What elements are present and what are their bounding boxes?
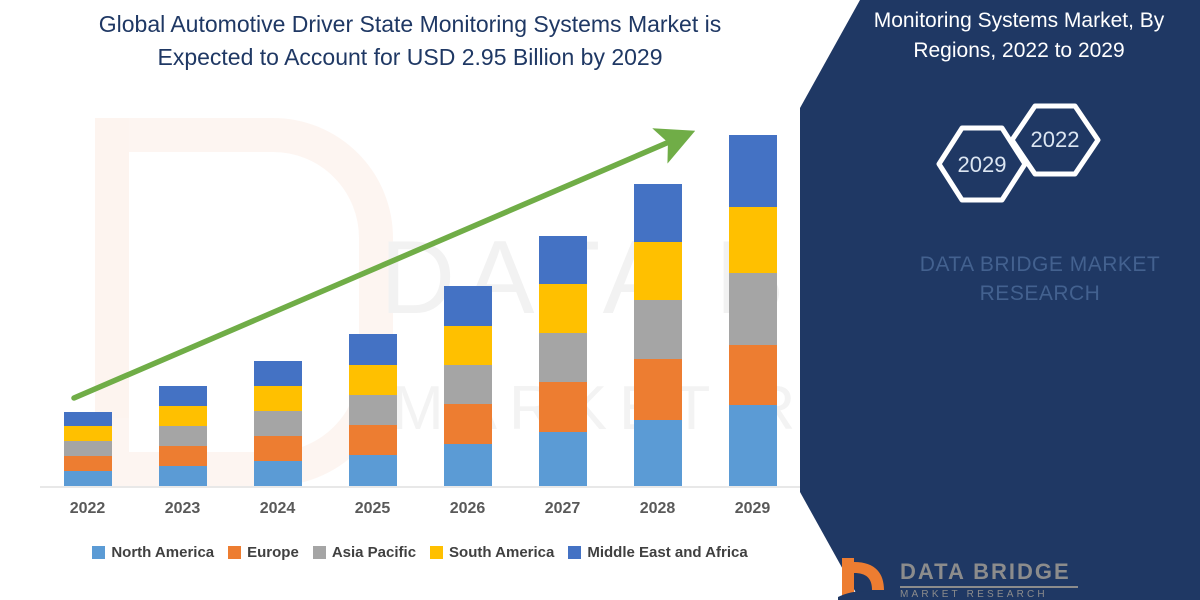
hex-badge-group: 2022 2029 [920, 88, 1120, 218]
bar-segment [64, 471, 112, 486]
bar-segment [159, 386, 207, 406]
bar-2028[interactable] [634, 184, 682, 486]
bar-segment [64, 412, 112, 426]
bar-segment [254, 361, 302, 386]
bar-segment [729, 135, 777, 207]
bar-segment [444, 404, 492, 444]
logo-name: DATA BRIDGE [900, 561, 1078, 583]
bar-segment [159, 446, 207, 466]
bar-segment [539, 333, 587, 382]
x-axis-labels: 20222023202420252026202720282029 [40, 500, 800, 528]
bar-segment [634, 242, 682, 300]
legend-swatch-icon [228, 546, 241, 559]
bar-segment [349, 395, 397, 425]
bar-segment [444, 365, 492, 404]
bar-segment [729, 405, 777, 486]
bar-segment [64, 441, 112, 456]
bar-segment [634, 184, 682, 242]
company-logo: DATA BRIDGE MARKET RESEARCH [838, 556, 1178, 600]
bar-segment [254, 461, 302, 486]
bar-segment [254, 411, 302, 436]
chart-plot-area [40, 110, 800, 486]
brand-name: DATA BRIDGE MARKET RESEARCH [880, 250, 1200, 309]
legend-label: Asia Pacific [332, 544, 416, 561]
legend-label: Middle East and Africa [587, 544, 747, 561]
infographic-canvas: DATA BRIDGE MARKET RESEARCH Global Autom… [0, 0, 1200, 600]
bar-2022[interactable] [64, 412, 112, 486]
bar-segment [159, 406, 207, 426]
legend-label: Europe [247, 544, 299, 561]
legend-item[interactable]: Middle East and Africa [568, 544, 747, 561]
bar-segment [539, 236, 587, 284]
bar-2026[interactable] [444, 286, 492, 486]
bar-2027[interactable] [539, 236, 587, 486]
x-axis-line [40, 486, 800, 488]
stacked-bar-chart: 20222023202420252026202720282029 North A… [0, 0, 840, 600]
bar-segment [159, 466, 207, 486]
bar-segment [349, 365, 397, 395]
bar-2029[interactable] [729, 135, 777, 486]
bar-segment [729, 207, 777, 273]
bar-segment [634, 359, 682, 420]
bar-segment [634, 300, 682, 359]
bar-segment [444, 326, 492, 365]
bar-segment [539, 432, 587, 486]
x-axis-label-2029: 2029 [708, 500, 798, 518]
legend-swatch-icon [568, 546, 581, 559]
bar-segment [539, 382, 587, 432]
hex-label-2022: 2022 [1031, 127, 1080, 152]
legend-item[interactable]: North America [92, 544, 214, 561]
logo-divider [900, 586, 1078, 588]
bar-2023[interactable] [159, 386, 207, 486]
legend-label: South America [449, 544, 554, 561]
bar-segment [634, 420, 682, 486]
logo-text-block: DATA BRIDGE MARKET RESEARCH [900, 556, 1078, 600]
legend-label: North America [111, 544, 214, 561]
bar-segment [729, 345, 777, 405]
legend-item[interactable]: Asia Pacific [313, 544, 416, 561]
bar-segment [729, 273, 777, 345]
chart-legend: North AmericaEuropeAsia PacificSouth Ame… [40, 540, 800, 564]
bar-segment [349, 425, 397, 455]
x-axis-label-2023: 2023 [138, 500, 228, 518]
bar-segment [444, 286, 492, 326]
bar-segment [254, 436, 302, 461]
bar-segment [349, 334, 397, 365]
logo-subtitle: MARKET RESEARCH [900, 590, 1078, 600]
bar-segment [444, 444, 492, 486]
legend-item[interactable]: Europe [228, 544, 299, 561]
right-panel-title: Monitoring Systems Market, By Regions, 2… [846, 6, 1192, 67]
bar-2024[interactable] [254, 361, 302, 486]
hex-label-2029: 2029 [958, 152, 1007, 177]
bridge-logo-icon [838, 556, 890, 600]
legend-swatch-icon [92, 546, 105, 559]
bar-segment [254, 386, 302, 411]
x-axis-label-2025: 2025 [328, 500, 418, 518]
bar-segment [64, 456, 112, 471]
x-axis-label-2027: 2027 [518, 500, 608, 518]
bar-segment [349, 455, 397, 486]
x-axis-label-2028: 2028 [613, 500, 703, 518]
x-axis-label-2024: 2024 [233, 500, 323, 518]
legend-item[interactable]: South America [430, 544, 554, 561]
bar-segment [64, 426, 112, 441]
bar-segment [159, 426, 207, 446]
bar-2025[interactable] [349, 334, 397, 486]
x-axis-label-2022: 2022 [43, 500, 133, 518]
legend-swatch-icon [313, 546, 326, 559]
x-axis-label-2026: 2026 [423, 500, 513, 518]
bar-segment [539, 284, 587, 333]
legend-swatch-icon [430, 546, 443, 559]
